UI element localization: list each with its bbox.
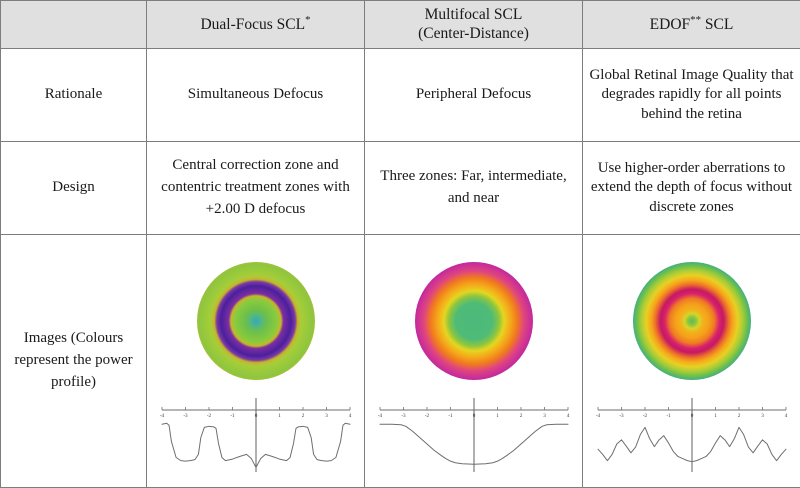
header-dual-focus: Dual-Focus SCL* [147,1,365,49]
cell-rationale-multifocal: Peripheral Defocus [365,48,583,141]
svg-text:-4: -4 [159,413,164,419]
row-label-design: Design [1,141,147,234]
svg-text:0: 0 [472,413,475,419]
edof-power-profile: -4-3-2-101234 [592,392,792,474]
svg-text:-1: -1 [230,413,235,419]
svg-text:-1: -1 [448,413,453,419]
svg-text:3: 3 [325,413,328,419]
svg-text:-4: -4 [595,413,600,419]
header-dual-focus-superscript: * [305,14,310,26]
svg-text:-2: -2 [642,413,647,419]
svg-text:4: 4 [566,413,569,419]
multifocal-power-map [415,262,533,380]
cell-images-multifocal: -4-3-2-101234 [365,234,583,487]
svg-text:-4: -4 [377,413,382,419]
header-multifocal: Multifocal SCL (Center-Distance) [365,1,583,49]
cell-images-edof: -4-3-2-101234 [583,234,800,487]
header-corner-cell [1,1,147,49]
svg-text:1: 1 [496,413,499,419]
multifocal-power-profile: -4-3-2-101234 [374,392,574,474]
svg-text:1: 1 [278,413,281,419]
header-edof-label-tail: SCL [701,16,733,33]
cell-images-dual-focus: -4-3-2-101234 [147,234,365,487]
table-header-row: Dual-Focus SCL* Multifocal SCL (Center-D… [1,1,800,49]
header-dual-focus-label: Dual-Focus SCL [200,16,305,33]
cell-design-edof: Use higher-order aberrations to extend t… [583,141,800,234]
table-row-design: Design Central correction zone and conte… [1,141,800,234]
header-edof-superscript: ** [690,14,701,26]
cell-design-dual-focus: Central correction zone and contentric t… [147,141,365,234]
figure-contact-lens-comparison-table: Dual-Focus SCL* Multifocal SCL (Center-D… [0,0,800,488]
svg-text:-3: -3 [401,413,406,419]
svg-text:-2: -2 [206,413,211,419]
svg-text:-2: -2 [424,413,429,419]
svg-text:1: 1 [714,413,717,419]
svg-text:2: 2 [519,413,522,419]
row-label-images: Images (Colours represent the power prof… [1,234,147,487]
svg-text:2: 2 [301,413,304,419]
cell-design-multifocal: Three zones: Far, intermediate, and near [365,141,583,234]
dual-focus-power-profile: -4-3-2-101234 [156,392,356,474]
row-label-rationale: Rationale [1,48,147,141]
svg-text:0: 0 [254,413,257,419]
svg-text:3: 3 [543,413,546,419]
header-multifocal-sublabel: (Center-Distance) [418,25,529,42]
cell-rationale-edof: Global Retinal Image Quality that degrad… [583,48,800,141]
header-multifocal-label: Multifocal SCL [425,6,523,23]
svg-text:2: 2 [737,413,740,419]
cell-rationale-dual-focus: Simultaneous Defocus [147,48,365,141]
dual-focus-power-map [197,262,315,380]
svg-text:-3: -3 [619,413,624,419]
svg-text:4: 4 [348,413,351,419]
edof-power-map [633,262,751,380]
svg-text:4: 4 [784,413,787,419]
svg-text:-1: -1 [666,413,671,419]
table-row-rationale: Rationale Simultaneous Defocus Periphera… [1,48,800,141]
header-edof: EDOF** SCL [583,1,800,49]
header-edof-label: EDOF [650,16,690,33]
svg-text:0: 0 [690,413,693,419]
svg-text:3: 3 [761,413,764,419]
svg-text:-3: -3 [183,413,188,419]
table-row-images: Images (Colours represent the power prof… [1,234,800,487]
comparison-table: Dual-Focus SCL* Multifocal SCL (Center-D… [0,0,800,488]
